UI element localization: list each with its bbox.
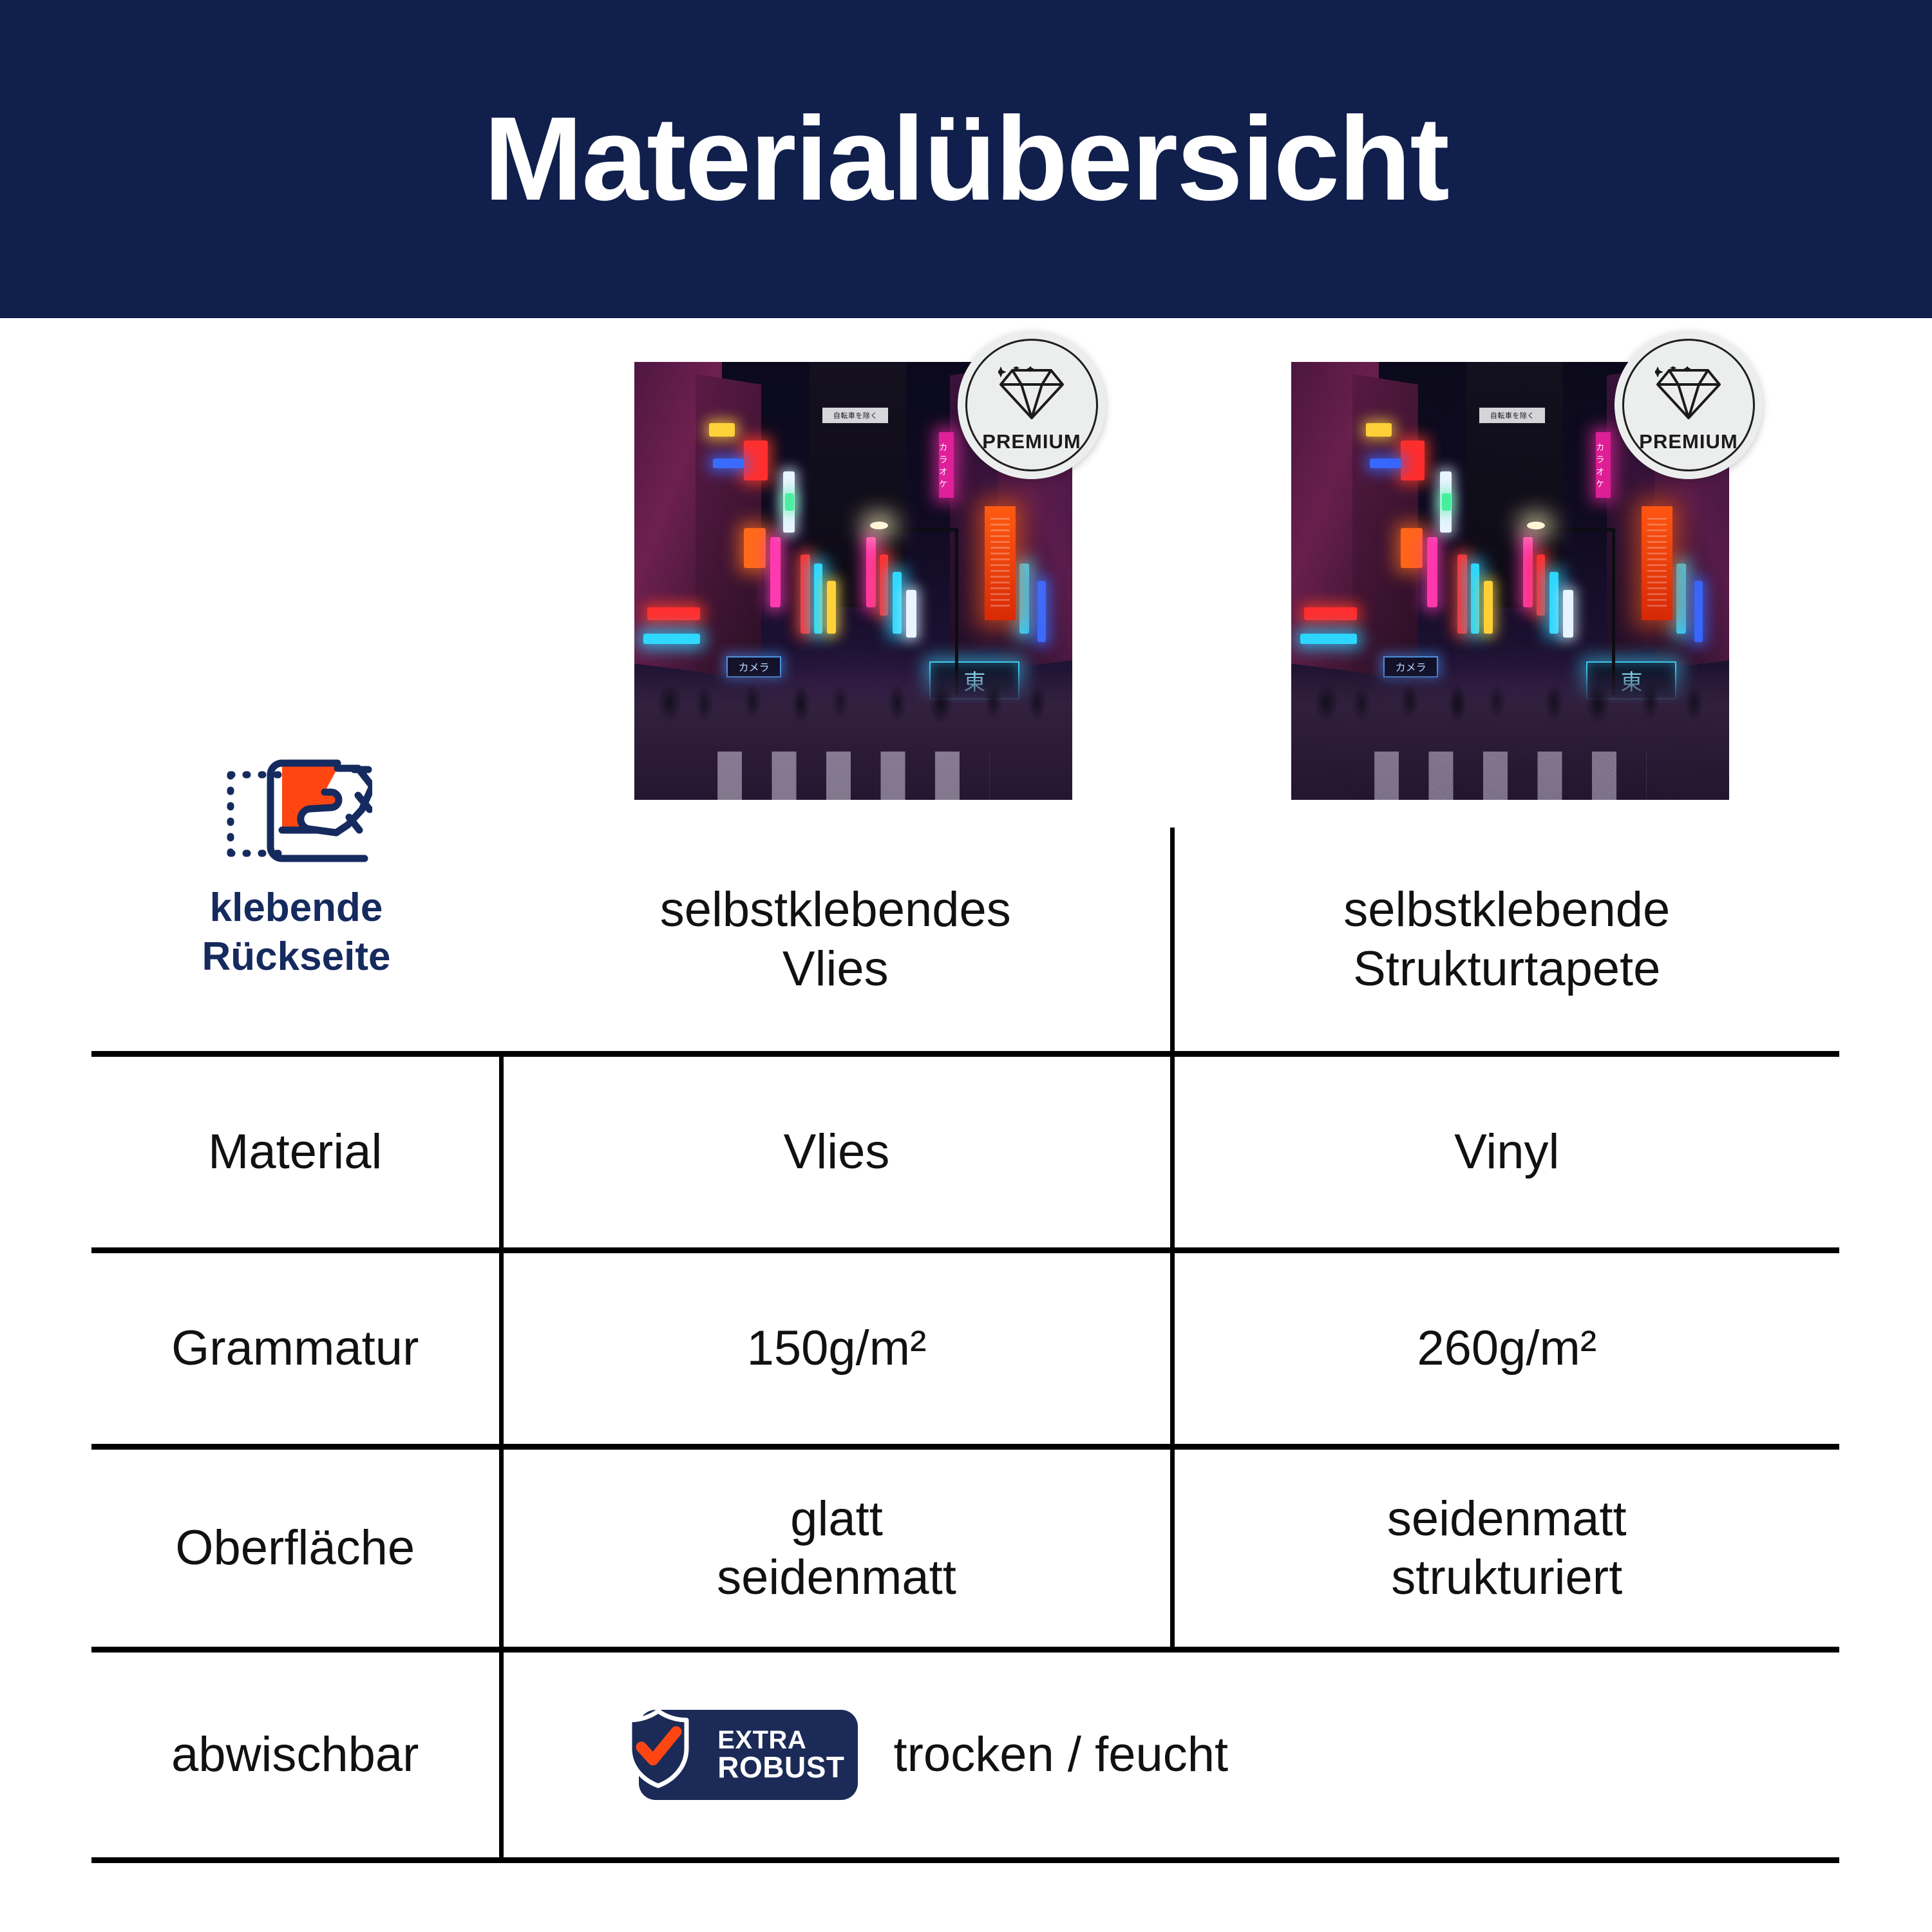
value-line2: seidenmatt	[519, 1548, 1155, 1607]
neon-sign	[1523, 537, 1533, 607]
neon-sign	[1563, 590, 1573, 638]
karaoke-sign: カラオケ	[1596, 432, 1611, 498]
material-comparison-table: klebende Rückseite selbstklebendes Vlies…	[91, 828, 1839, 1863]
neon-sign	[1037, 581, 1046, 642]
cell-abwischbar-value: EXTRA ROBUST trocken / feucht	[501, 1650, 1839, 1861]
extra-robust-line2: ROBUST	[717, 1753, 844, 1782]
adhesive-backing-label-line1: klebende	[210, 885, 383, 930]
neon-sign	[1484, 581, 1493, 634]
neon-sign	[744, 440, 768, 480]
neon-sign	[814, 563, 823, 634]
neon-sign	[1676, 563, 1686, 634]
street-lamp-arm	[884, 528, 959, 531]
neon-sign	[1427, 537, 1437, 607]
neon-sign	[709, 423, 735, 436]
product-tile-strukturtapete: 自転車を除く カラオケ カメラ 東 PREMIUM	[1291, 362, 1729, 800]
table-row-abwischbar: abwischbar EXTRA ROBUST	[91, 1650, 1839, 1861]
table-row-material: Material Vlies Vinyl	[91, 1054, 1839, 1251]
premium-badge-vlies: PREMIUM	[958, 331, 1106, 479]
street-lamp-arm	[1541, 528, 1616, 531]
premium-label: PREMIUM	[1639, 430, 1738, 453]
neon-sign	[1370, 459, 1401, 468]
page-header: Materialübersicht	[0, 0, 1932, 318]
neon-sign	[880, 554, 889, 616]
value-line1: glatt	[519, 1490, 1155, 1548]
neon-sign	[800, 554, 810, 633]
neon-sign	[827, 581, 836, 634]
premium-label: PREMIUM	[982, 430, 1081, 453]
crosswalk-markings	[717, 752, 989, 800]
neon-sign	[1300, 634, 1357, 644]
neon-sign	[866, 537, 876, 607]
table-row-header: klebende Rückseite selbstklebendes Vlies…	[91, 828, 1839, 1054]
neon-sign	[1537, 554, 1546, 616]
neon-sign	[1549, 572, 1558, 633]
neon-sign	[643, 634, 700, 644]
neon-sign	[1457, 554, 1467, 633]
adhesive-backing-icon	[220, 755, 372, 882]
street-sign-japanese: 自転車を除く	[1479, 408, 1545, 422]
premium-badge-strukturtapete: PREMIUM	[1615, 331, 1763, 479]
cell-oberflaeche-vlies: glatt seidenmatt	[501, 1447, 1172, 1650]
neon-sign	[1019, 563, 1029, 634]
neon-sign	[1694, 581, 1703, 642]
building-center	[810, 362, 906, 607]
table-header-cell-vlies: selbstklebendes Vlies	[501, 828, 1172, 1054]
row-label-oberflaeche: Oberfläche	[91, 1447, 501, 1650]
neon-sign	[1401, 440, 1425, 480]
cell-oberflaeche-strukturtapete: seidenmatt strukturiert	[1172, 1447, 1839, 1650]
karaoke-sign: カラオケ	[939, 432, 954, 498]
value-line1: seidenmatt	[1190, 1490, 1824, 1548]
neon-sign	[1366, 423, 1392, 436]
cell-grammatur-vlies: 150g/m²	[501, 1251, 1172, 1447]
diamond-icon	[1655, 366, 1722, 425]
table-row-grammatur: Grammatur 150g/m² 260g/m²	[91, 1251, 1839, 1447]
header-line2: Strukturtapete	[1190, 940, 1824, 998]
row-label-material: Material	[91, 1054, 501, 1251]
table-row-oberflaeche: Oberfläche glatt seidenmatt seidenmatt s…	[91, 1447, 1839, 1650]
neon-sign	[785, 493, 794, 511]
cell-grammatur-strukturtapete: 260g/m²	[1172, 1251, 1839, 1447]
header-line2: Vlies	[516, 940, 1155, 998]
value-line2: strukturiert	[1190, 1548, 1824, 1607]
neon-sign	[1401, 528, 1423, 567]
table-header-cell-strukturtapete: selbstklebende Strukturtapete	[1172, 828, 1839, 1054]
header-line1: selbstklebendes	[516, 880, 1155, 939]
extra-robust-badge: EXTRA ROBUST	[639, 1710, 858, 1800]
product-tile-vlies: 自転車を除く カラオケ カメラ 東 PREMIUM	[634, 362, 1072, 800]
large-orange-sign	[1642, 506, 1672, 620]
pedestrian-crowd	[634, 668, 1072, 725]
street-sign-japanese: 自転車を除く	[822, 408, 888, 422]
neon-sign	[1304, 607, 1357, 620]
neon-sign	[744, 528, 766, 567]
row-label-grammatur: Grammatur	[91, 1251, 501, 1447]
neon-sign	[713, 459, 744, 468]
adhesive-backing-cell: klebende Rückseite	[91, 828, 501, 1054]
building-center	[1466, 362, 1563, 607]
page-title: Materialübersicht	[484, 100, 1448, 219]
shield-check-icon	[625, 1707, 692, 1803]
abwischbar-value-text: trocken / feucht	[894, 1725, 1229, 1784]
cell-material-vlies: Vlies	[501, 1054, 1172, 1251]
neon-sign	[1442, 493, 1451, 511]
large-orange-sign	[985, 506, 1016, 620]
diamond-icon	[998, 366, 1065, 425]
neon-sign	[770, 537, 781, 607]
neon-sign	[647, 607, 700, 620]
neon-sign	[893, 572, 902, 633]
adhesive-backing-label-line2: Rückseite	[202, 934, 391, 979]
cell-material-strukturtapete: Vinyl	[1172, 1054, 1839, 1251]
neon-sign	[906, 590, 916, 638]
crosswalk-markings	[1374, 752, 1646, 800]
neon-sign	[1471, 563, 1480, 634]
header-line1: selbstklebende	[1190, 880, 1824, 939]
pedestrian-crowd	[1291, 668, 1729, 725]
row-label-abwischbar: abwischbar	[91, 1650, 501, 1861]
extra-robust-line1: EXTRA	[717, 1728, 806, 1753]
